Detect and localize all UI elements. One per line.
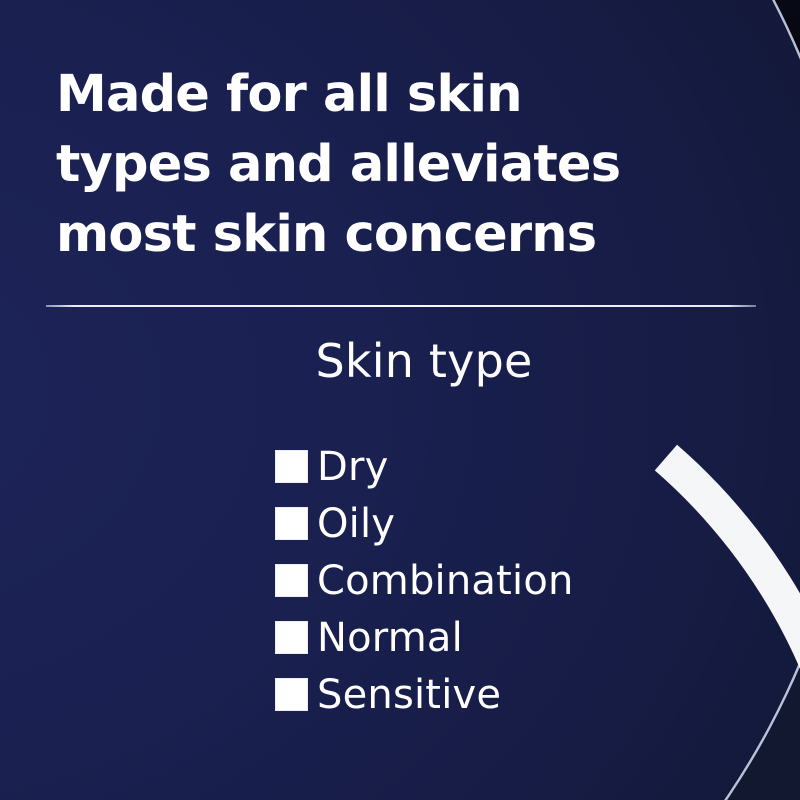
- list-item[interactable]: Combination: [275, 552, 755, 609]
- list-item[interactable]: Dry: [275, 438, 755, 495]
- checkbox-icon[interactable]: [275, 450, 308, 483]
- list-item[interactable]: Normal: [275, 609, 755, 666]
- checkbox-icon[interactable]: [275, 621, 308, 654]
- list-item-label: Combination: [317, 559, 574, 603]
- page-title: Made for all skin types and alleviates m…: [56, 60, 716, 270]
- checkbox-icon[interactable]: [275, 678, 308, 711]
- list-item-label: Oily: [317, 502, 395, 546]
- headline-line-1: Made for all skin: [56, 60, 716, 130]
- list-item-label: Normal: [317, 616, 463, 660]
- section-title: Skin type: [0, 330, 800, 392]
- list-item[interactable]: Oily: [275, 495, 755, 552]
- list-item[interactable]: Sensitive: [275, 666, 755, 723]
- headline-line-2: types and alleviates: [56, 130, 716, 200]
- divider: [46, 305, 756, 307]
- checkbox-icon[interactable]: [275, 564, 308, 597]
- content-area: Made for all skin types and alleviates m…: [0, 0, 800, 800]
- skin-type-list: Dry Oily Combination Normal Sensitive: [275, 438, 755, 723]
- checkbox-icon[interactable]: [275, 507, 308, 540]
- list-item-label: Dry: [317, 445, 389, 489]
- list-item-label: Sensitive: [317, 673, 501, 717]
- promo-banner: Made for all skin types and alleviates m…: [0, 0, 800, 800]
- headline-line-3: most skin concerns: [56, 200, 716, 270]
